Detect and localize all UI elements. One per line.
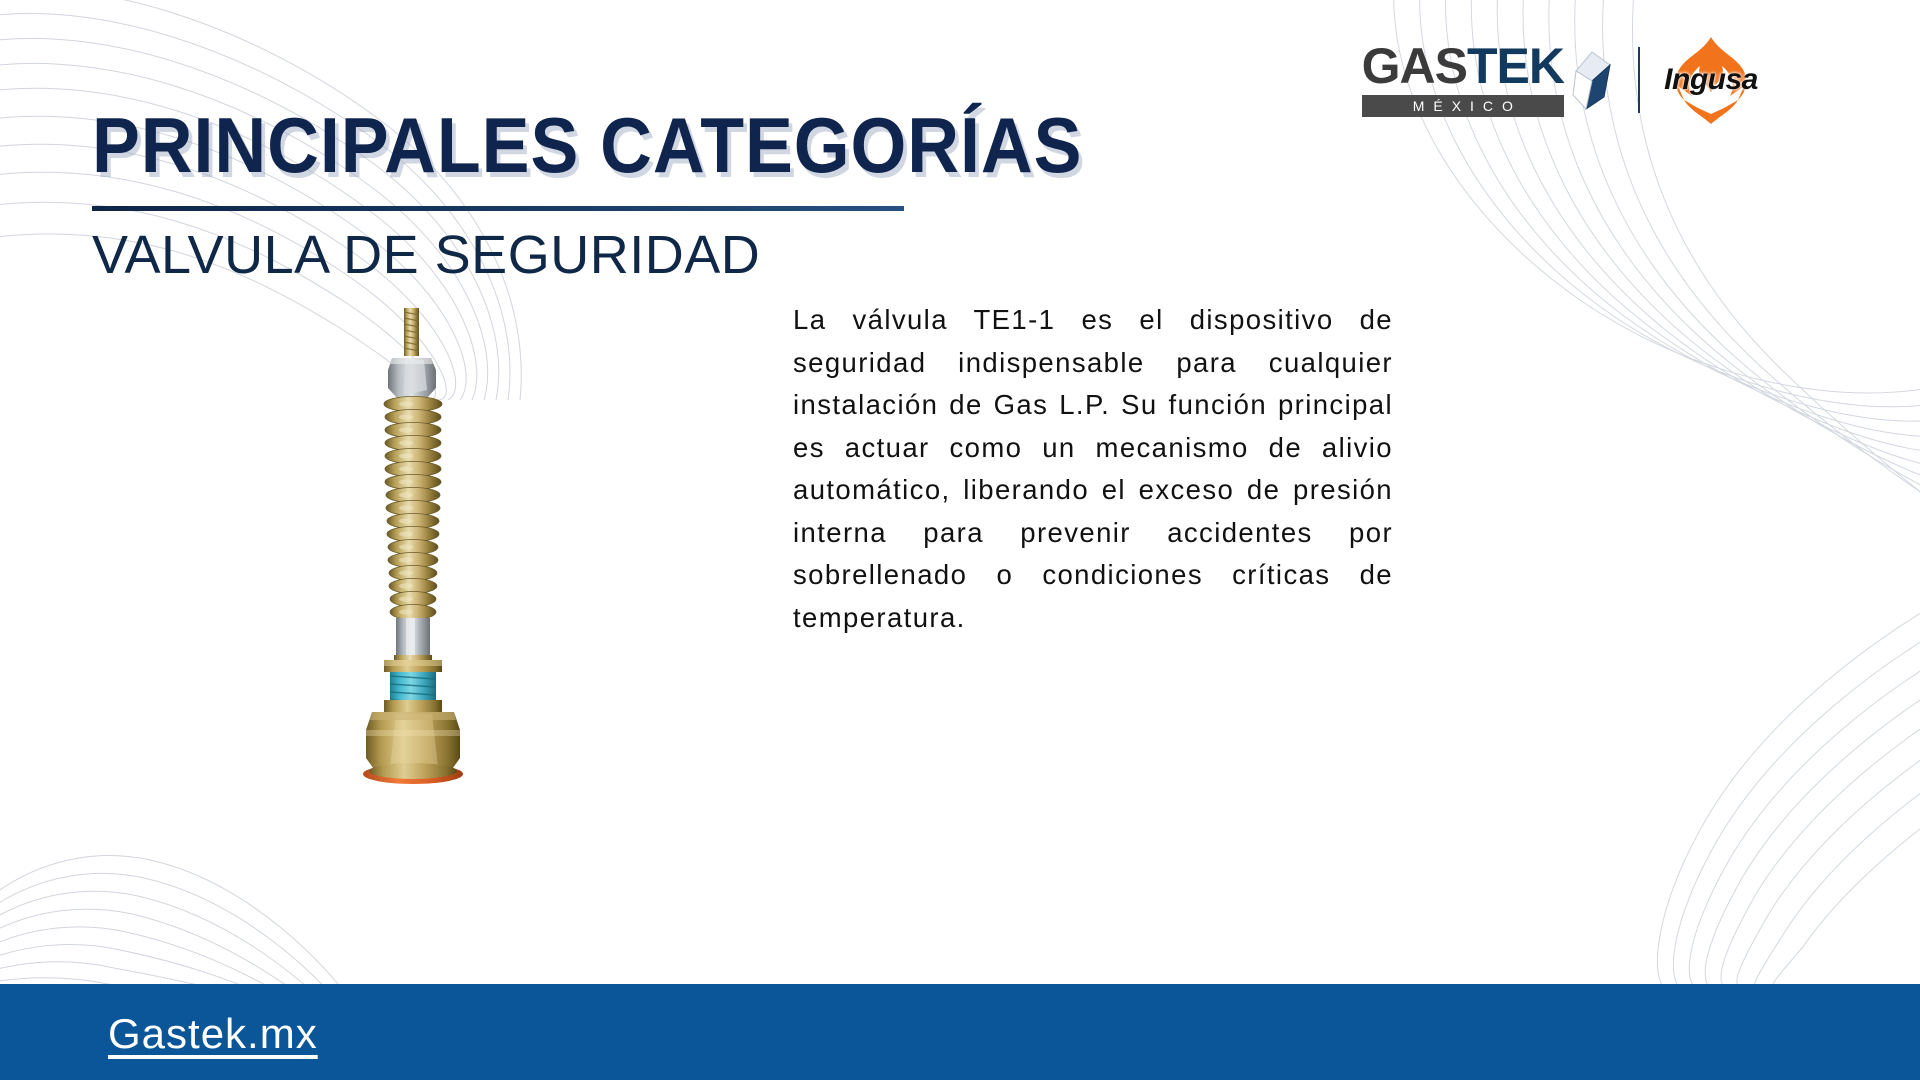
- gastek-wordmark: GASTEK MÉXICO: [1362, 43, 1564, 117]
- page-title: PRINCIPALES CATEGORÍAS: [92, 100, 1082, 191]
- gastek-country-bar: MÉXICO: [1362, 95, 1564, 117]
- ingusa-wordmark: Ingusa: [1664, 63, 1758, 97]
- gastek-diamond-mark-icon: [1570, 51, 1616, 113]
- safety-valve-illustration: [300, 300, 600, 790]
- gastek-word-gas: GAS: [1362, 38, 1467, 94]
- logo-separator: [1638, 47, 1640, 113]
- gastek-word: GASTEK: [1362, 43, 1564, 91]
- title-divider: [92, 206, 904, 211]
- brand-logo-bar: GASTEK MÉXICO Ingusa: [1362, 34, 1760, 126]
- product-description: La válvula TE1-1 es el dispositivo de se…: [793, 299, 1393, 639]
- ingusa-logo[interactable]: Ingusa: [1662, 34, 1760, 126]
- gastek-logo[interactable]: GASTEK MÉXICO: [1362, 43, 1616, 117]
- footer-bar: Gastek.mx: [0, 984, 1920, 1080]
- page-subtitle: VALVULA DE SEGURIDAD: [92, 224, 760, 286]
- website-link[interactable]: Gastek.mx: [108, 1010, 318, 1058]
- product-image-safety-valve: [300, 300, 600, 790]
- wave-lines-bottom-right: [1400, 590, 1920, 990]
- gastek-word-tek: TEK: [1467, 38, 1564, 94]
